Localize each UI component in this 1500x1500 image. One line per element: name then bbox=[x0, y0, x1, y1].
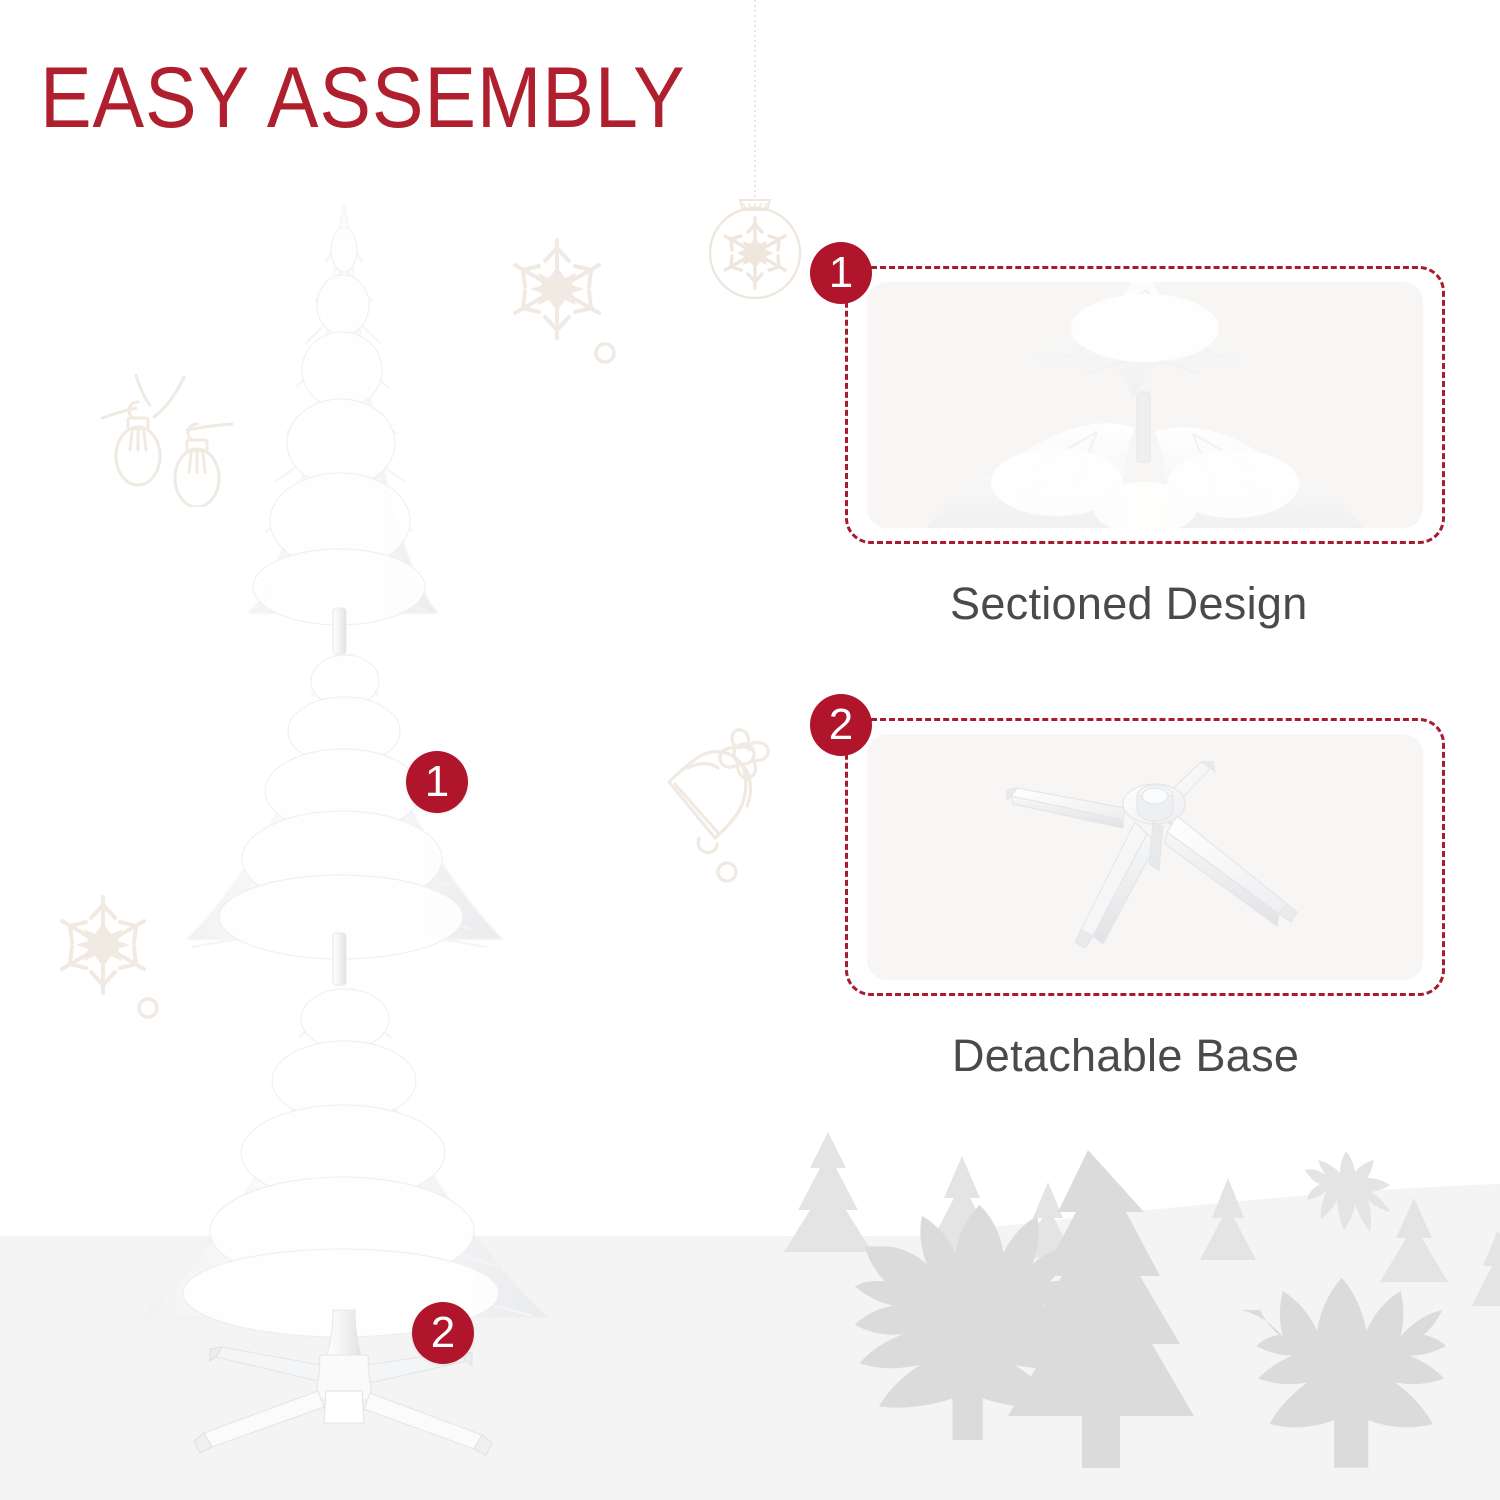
callout-label-1: Sectioned Design bbox=[950, 578, 1308, 630]
callout-badge-1[interactable]: 1 bbox=[810, 242, 872, 304]
tree-marker-1[interactable]: 1 bbox=[406, 751, 468, 813]
forest-silhouette bbox=[780, 1120, 1500, 1500]
tree-marker-2[interactable]: 2 bbox=[412, 1302, 474, 1364]
bell-with-bow-icon bbox=[655, 710, 800, 890]
callout-photo-panel-1 bbox=[867, 282, 1423, 528]
infographic-canvas: EASY ASSEMBLY bbox=[0, 0, 1500, 1500]
tree-section-top bbox=[248, 205, 438, 654]
tree-section-joint-closeup-image bbox=[867, 282, 1423, 528]
callout-badge-2[interactable]: 2 bbox=[810, 694, 872, 756]
callout-card-1: 1 bbox=[845, 266, 1445, 544]
hanging-ornament-ball-snowflake bbox=[700, 0, 810, 300]
white-four-leg-tree-stand-image bbox=[867, 734, 1423, 980]
callout-label-2: Detachable Base bbox=[952, 1030, 1299, 1082]
tree-section-bottom bbox=[142, 989, 548, 1357]
callout-photo-panel-2 bbox=[867, 734, 1423, 980]
callout-card-2: 2 bbox=[845, 718, 1445, 996]
page-title: EASY ASSEMBLY bbox=[40, 55, 686, 141]
tree-section-middle bbox=[188, 655, 502, 985]
product-tree-exploded bbox=[130, 195, 560, 1475]
